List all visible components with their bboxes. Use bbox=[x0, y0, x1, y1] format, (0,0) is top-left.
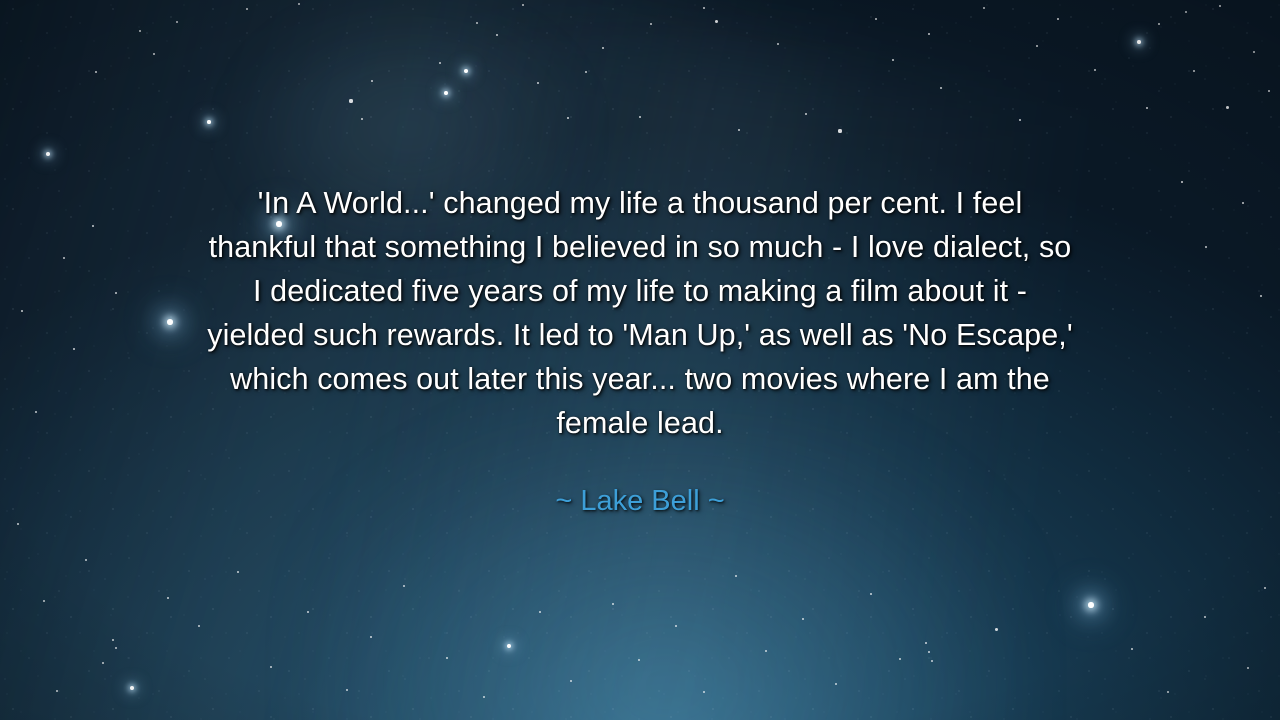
quote-attribution: ~ Lake Bell ~ bbox=[120, 445, 1160, 521]
quote-block: 'In A World...' changed my life a thousa… bbox=[0, 0, 1280, 720]
quote-text: 'In A World...' changed my life a thousa… bbox=[120, 181, 1160, 445]
quote-inner: 'In A World...' changed my life a thousa… bbox=[120, 181, 1160, 521]
quote-image-canvas: 'In A World...' changed my life a thousa… bbox=[0, 0, 1280, 720]
